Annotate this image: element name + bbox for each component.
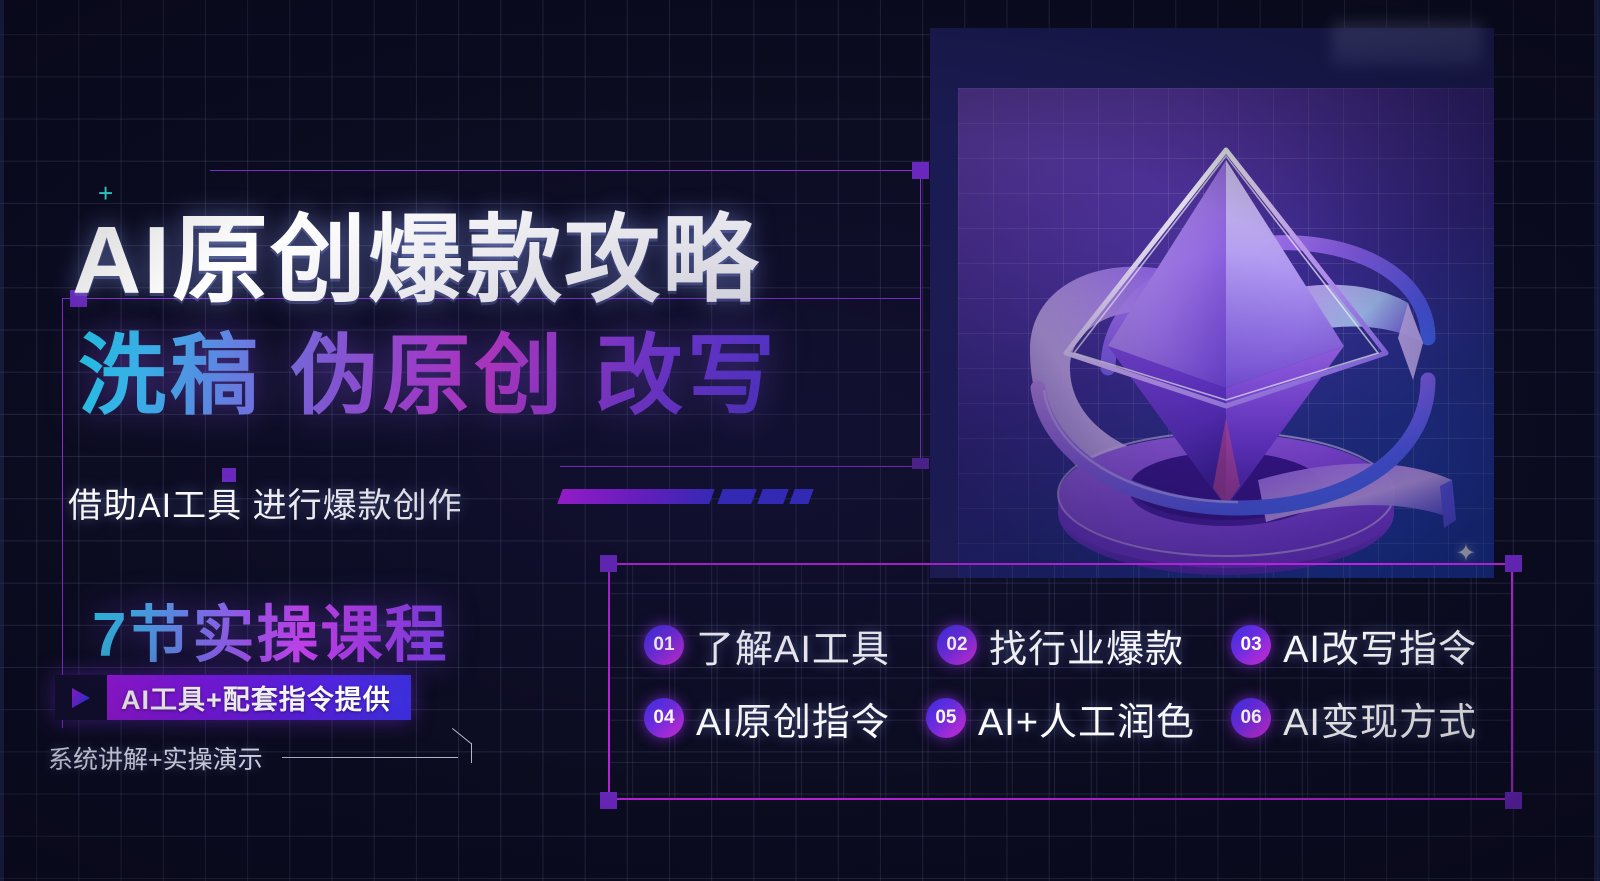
list-item[interactable]: 02 找行业爆款 [937, 618, 1184, 673]
list-item[interactable]: 03 AI改写指令 [1231, 618, 1477, 673]
item-label: AI原创指令 [696, 691, 890, 746]
artwork-panel-outer: ✦ [930, 28, 1494, 578]
right-edge-shade [1594, 0, 1600, 881]
list-item[interactable]: 01 了解AI工具 [644, 618, 890, 673]
item-number-badge: 06 [1231, 698, 1271, 738]
title-frame-left-line [62, 298, 63, 728]
footnote-arrow-icon [452, 743, 472, 763]
play-triangle-icon [55, 675, 107, 720]
item-number-badge: 03 [1231, 625, 1271, 665]
dash-bar-2 [757, 489, 788, 504]
curriculum-row: 01 了解AI工具 02 找行业爆款 03 AI改写指令 [644, 618, 1477, 673]
cta-banner[interactable]: AI工具+配套指令提供 [55, 675, 411, 720]
listbox-corner-top-right [1505, 555, 1522, 572]
list-item[interactable]: 04 AI原创指令 [644, 691, 890, 746]
artwork-3d-render [958, 88, 1494, 578]
blurred-watermark [1332, 22, 1482, 66]
page-subtitle: 洗稿 伪原创 改写 [78, 305, 779, 432]
item-number-badge: 04 [644, 698, 684, 738]
title-frame-right-line [920, 170, 921, 300]
footnote-text: 系统讲解+实操演示 [48, 740, 263, 776]
listbox-corner-top-left [600, 555, 617, 572]
item-label: AI+人工润色 [978, 691, 1195, 746]
curriculum-box: 01 了解AI工具 02 找行业爆款 03 AI改写指令 04 AI原创指令 [608, 563, 1513, 800]
title-frame-lower-right-line [920, 298, 921, 468]
listbox-corner-bottom-left [600, 792, 617, 809]
item-label: 了解AI工具 [696, 618, 890, 673]
poster-canvas: ✦ + + AI原创爆款攻略 洗稿 伪原创 改写 借助AI工具 进行爆款创作 7… [0, 0, 1600, 881]
curriculum-row: 04 AI原创指令 05 AI+人工润色 06 AI变现方式 [644, 691, 1477, 746]
item-label: AI变现方式 [1283, 691, 1477, 746]
footnote-rule [282, 757, 458, 758]
curriculum-rows: 01 了解AI工具 02 找行业爆款 03 AI改写指令 04 AI原创指令 [610, 565, 1511, 798]
title-frame-lower-line [560, 466, 920, 467]
item-number-badge: 05 [926, 698, 966, 738]
cta-label: AI工具+配套指令提供 [107, 675, 411, 720]
corner-marker-top-right [912, 162, 929, 179]
listbox-corner-bottom-right [1505, 792, 1522, 809]
dash-bar-long [557, 489, 714, 504]
corner-marker-bottom-right [912, 458, 929, 469]
item-label: AI改写指令 [1283, 618, 1477, 673]
list-item[interactable]: 05 AI+人工润色 [926, 691, 1195, 746]
item-number-badge: 01 [644, 625, 684, 665]
left-edge-shade [0, 0, 4, 881]
page-title: AI原创爆款攻略 [72, 182, 760, 321]
artwork-panel-inner: ✦ [958, 88, 1494, 578]
course-count-title: 7节实操课程 [92, 584, 448, 674]
item-number-badge: 02 [937, 625, 977, 665]
list-item[interactable]: 06 AI变现方式 [1231, 691, 1477, 746]
item-label: 找行业爆款 [989, 618, 1184, 673]
title-frame-top-line [210, 170, 922, 171]
tagline: 借助AI工具 进行爆款创作 [68, 478, 463, 527]
dash-bar-1 [717, 489, 756, 504]
